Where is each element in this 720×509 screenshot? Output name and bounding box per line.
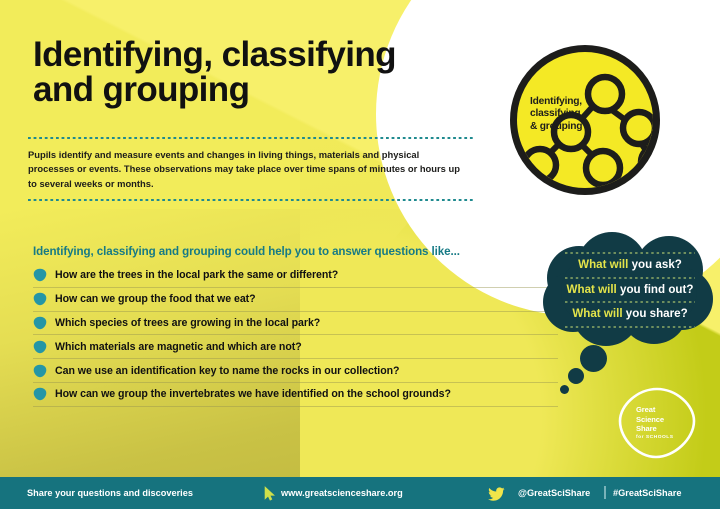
footer-separator [604,486,606,499]
question-text: How can we group the food that we eat? [55,293,256,305]
badge-line-2: classifying [530,108,604,120]
description-text: Pupils identify and measure events and c… [28,139,460,199]
triangle-bullet-icon [33,340,47,354]
question-text: How are the trees in the local park the … [55,269,338,281]
bubble-line-1-b: you ask? [632,258,682,271]
bubble-line-1: What will you ask? [555,254,705,277]
bubble-line-3-a: What will [572,307,625,320]
page-title: Identifying, classifying and grouping [33,38,473,107]
bubble-line-2: What will you find out? [555,279,705,302]
footer-hashtag[interactable]: #GreatSciShare [613,488,681,498]
description-block: Pupils identify and measure events and c… [28,137,473,201]
questions-list: How are the trees in the local park the … [33,264,558,407]
question-text: Which materials are magnetic and which a… [55,341,302,353]
footer-twitter-handle[interactable]: @GreatSciShare [518,488,590,498]
thought-tail-large [580,345,607,372]
bubble-line-2-b: you find out? [620,283,693,296]
poster-root: Identifying, classifying and grouping Pu… [0,0,720,509]
triangle-bullet-icon [33,292,47,306]
dotted-rule-bottom [28,199,473,201]
questions-heading: Identifying, classifying and grouping co… [33,245,460,258]
list-item: How can we group the food that we eat? [33,288,558,312]
cursor-icon [264,486,276,501]
question-text: Which species of trees are growing in th… [55,317,320,329]
footer-url[interactable]: www.greatscienceshare.org [281,488,403,498]
great-science-share-logo: Great Science Share for SCHOOLS [614,383,700,463]
question-text: How can we group the invertebrates we ha… [55,388,451,400]
bubble-line-2-a: What will [567,283,620,296]
triangle-bullet-icon [33,316,47,330]
page-title-line-2: and grouping [33,73,473,108]
bubble-dotted-rule [565,326,695,328]
logo-line-3: Share [636,424,698,434]
twitter-icon[interactable] [488,487,505,501]
badge-line-1: Identifying, [530,96,604,108]
triangle-bullet-icon [33,364,47,378]
list-item: Which materials are magnetic and which a… [33,335,558,359]
thought-tail-small [560,385,569,394]
question-text: Can we use an identification key to name… [55,365,399,377]
logo-line-2: Science [636,415,698,425]
list-item: Which species of trees are growing in th… [33,312,558,336]
list-item: Can we use an identification key to name… [33,359,558,383]
thought-bubble-content: What will you ask? What will you find ou… [555,252,705,328]
list-item: How are the trees in the local park the … [33,264,558,288]
footer-bar: Share your questions and discoveries www… [0,477,720,509]
thought-tail-medium [568,368,584,384]
logo-text: Great Science Share for SCHOOLS [636,405,698,441]
footer-tagline: Share your questions and discoveries [27,488,193,498]
triangle-bullet-icon [33,268,47,282]
badge-line-3: & grouping [530,121,604,133]
list-item: How can we group the invertebrates we ha… [33,383,558,407]
thought-bubble: What will you ask? What will you find ou… [543,232,715,347]
page-title-line-1: Identifying, classifying [33,38,473,73]
bubble-line-3-b: you share? [626,307,688,320]
topic-badge: Identifying, classifying & grouping [510,45,660,195]
badge-label: Identifying, classifying & grouping [530,96,604,133]
bubble-line-1-a: What will [578,258,631,271]
bubble-line-3: What will you share? [555,303,705,326]
logo-line-1: Great [636,405,698,415]
triangle-bullet-icon [33,387,47,401]
logo-subtitle: for SCHOOLS [636,435,698,441]
